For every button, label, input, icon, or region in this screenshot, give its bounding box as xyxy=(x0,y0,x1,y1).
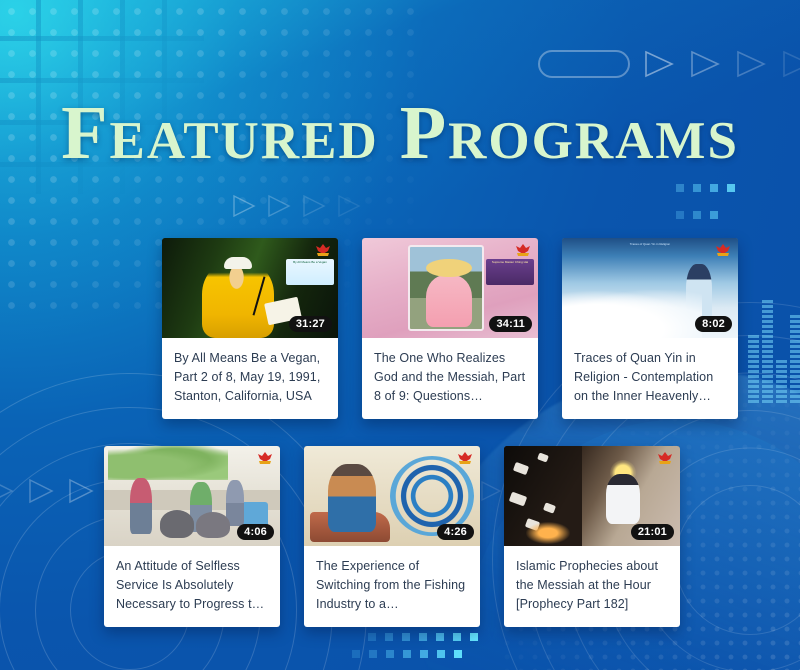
triangle-row-bottom-left xyxy=(0,478,94,504)
featured-row-2: 4:06 An Attitude of Selfless Service Is … xyxy=(104,446,680,627)
phoenix-logo-icon xyxy=(713,242,733,258)
phoenix-logo-icon xyxy=(313,242,333,258)
program-title[interactable]: Islamic Prophecies about the Messiah at … xyxy=(504,546,680,627)
program-title[interactable]: An Attitude of Selfless Service Is Absol… xyxy=(104,546,280,627)
phoenix-logo-icon xyxy=(255,450,275,466)
duration-badge: 4:26 xyxy=(437,524,474,540)
equalizer-column xyxy=(762,300,773,403)
duration-badge: 34:11 xyxy=(489,316,532,332)
duration-badge: 31:27 xyxy=(289,316,332,332)
program-thumbnail[interactable]: 4:26 xyxy=(304,446,480,546)
phoenix-logo-icon xyxy=(513,242,533,258)
triangle-icon xyxy=(690,50,720,78)
duration-badge: 4:06 xyxy=(237,524,274,540)
triangle-icon xyxy=(644,50,674,78)
program-thumbnail[interactable]: By All Means Be a Vegan 31:27 xyxy=(162,238,338,338)
duration-badge: 8:02 xyxy=(695,316,732,332)
program-thumbnail[interactable]: 4:06 xyxy=(104,446,280,546)
equalizer-bars-right xyxy=(748,300,800,403)
pill-outline-decor xyxy=(538,50,630,78)
page-stage: Featured Programs By All Means Be a Vega… xyxy=(0,0,800,670)
page-title: Featured Programs xyxy=(0,95,800,171)
program-card[interactable]: 4:06 An Attitude of Selfless Service Is … xyxy=(104,446,280,627)
thumbnail-caption-overlay: Supreme Master Ching Hai xyxy=(486,259,534,285)
program-card[interactable]: Supreme Master Ching Hai 34:11 The One W… xyxy=(362,238,538,419)
triangle-row-top-right xyxy=(644,50,800,78)
featured-row-1: By All Means Be a Vegan 31:27 By All Mea… xyxy=(162,238,738,419)
triangle-icon xyxy=(782,50,800,78)
program-card[interactable]: Traces of Quan Yin in Religion 8:02 Trac… xyxy=(562,238,738,419)
square-row-top-right-1 xyxy=(676,184,735,192)
square-row-bottom-2 xyxy=(352,650,462,658)
triangle-icon xyxy=(232,194,256,218)
program-title[interactable]: Traces of Quan Yin in Religion - Contemp… xyxy=(562,338,738,419)
program-thumbnail[interactable]: 21:01 xyxy=(504,446,680,546)
program-card[interactable]: By All Means Be a Vegan 31:27 By All Mea… xyxy=(162,238,338,419)
triangle-icon xyxy=(0,478,14,504)
triangle-icon xyxy=(28,478,54,504)
equalizer-column xyxy=(748,335,759,403)
square-row-bottom-1 xyxy=(368,633,478,641)
program-title[interactable]: The One Who Realizes God and the Messiah… xyxy=(362,338,538,419)
triangle-row-mid-left xyxy=(232,194,361,218)
triangle-icon xyxy=(736,50,766,78)
phoenix-logo-icon xyxy=(655,450,675,466)
triangle-icon xyxy=(68,478,94,504)
triangle-icon xyxy=(302,194,326,218)
program-card[interactable]: 21:01 Islamic Prophecies about the Messi… xyxy=(504,446,680,627)
triangle-icon xyxy=(337,194,361,218)
duration-badge: 21:01 xyxy=(631,524,674,540)
equalizer-column xyxy=(790,315,800,403)
program-thumbnail[interactable]: Traces of Quan Yin in Religion 8:02 xyxy=(562,238,738,338)
program-title[interactable]: By All Means Be a Vegan, Part 2 of 8, Ma… xyxy=(162,338,338,419)
program-card[interactable]: 4:26 The Experience of Switching from th… xyxy=(304,446,480,627)
phoenix-logo-icon xyxy=(455,450,475,466)
square-row-top-right-2 xyxy=(676,211,718,219)
program-title[interactable]: The Experience of Switching from the Fis… xyxy=(304,546,480,627)
equalizer-column xyxy=(776,360,787,403)
triangle-icon xyxy=(267,194,291,218)
thumbnail-caption-overlay: Traces of Quan Yin in Religion xyxy=(570,242,730,268)
thumbnail-caption-overlay: By All Means Be a Vegan xyxy=(286,259,334,285)
program-thumbnail[interactable]: Supreme Master Ching Hai 34:11 xyxy=(362,238,538,338)
